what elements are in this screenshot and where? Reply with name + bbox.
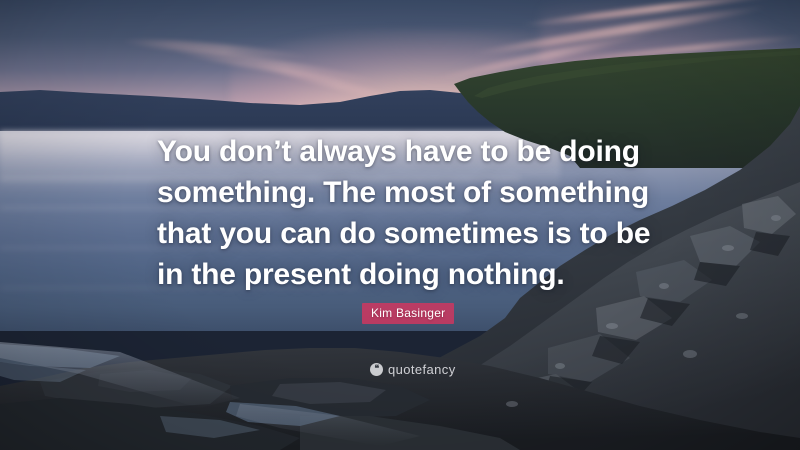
watermark-label: quotefancy [388,362,456,377]
quote-text-block: You don’t always have to be doing someth… [157,131,657,295]
quote-line: something. The most of something [157,172,657,213]
quote-poster: You don’t always have to be doing someth… [0,0,800,450]
quote-line: that you can do sometimes is to be [157,213,657,254]
author-badge: Kim Basinger [362,303,454,324]
quote-line: You don’t always have to be doing [157,131,657,172]
watermark: ❝ quotefancy [370,362,456,377]
quote-line: in the present doing nothing. [157,254,657,295]
quote-mark-icon: ❝ [370,363,383,376]
quote-mark-glyph: ❝ [374,364,378,373]
